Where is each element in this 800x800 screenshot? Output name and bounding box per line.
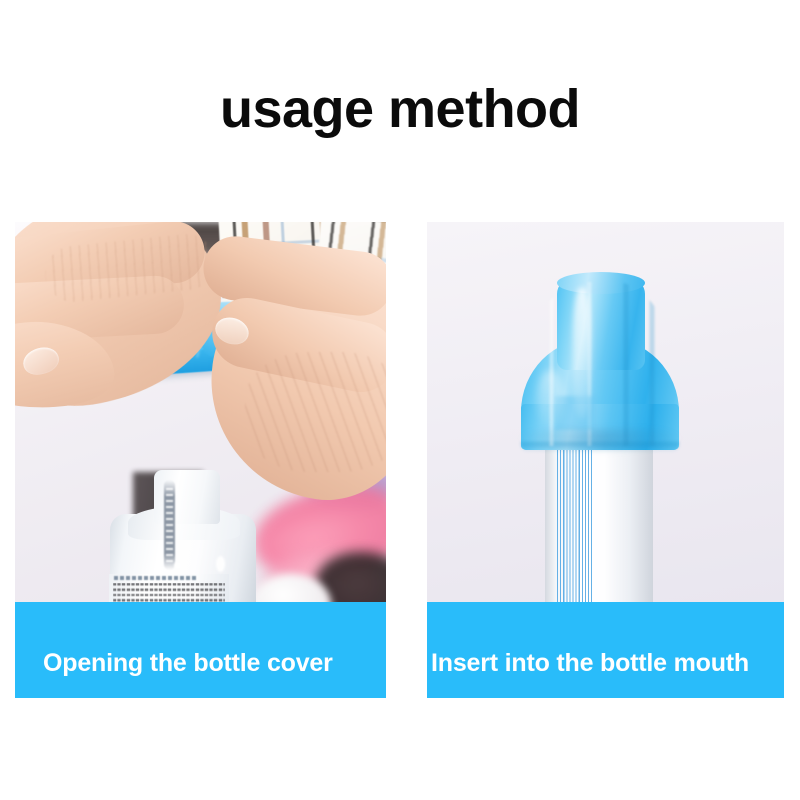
silicone-cap-gloss: [573, 288, 591, 418]
step-photo-1: [15, 222, 386, 602]
page-title: usage method: [0, 78, 800, 140]
bottle-label-body-text: [113, 583, 225, 602]
silicone-cap-gloss-2: [537, 370, 563, 430]
step-caption-2: Insert into the bottle mouth: [427, 649, 784, 678]
bottle-label: [109, 574, 229, 602]
photo-scene-opening-bottle-cover: [15, 222, 386, 602]
silicone-cap-installed: [521, 278, 679, 448]
bottle-vertical-brand-text: [164, 480, 175, 570]
right-hand-knuckle-lines: [245, 352, 386, 472]
bottle-stripe-pattern: [557, 438, 593, 602]
spray-bottle: [110, 470, 256, 602]
step-caption-bar-1: Opening the bottle cover: [15, 602, 386, 698]
step-caption-bar-2: Insert into the bottle mouth: [427, 602, 784, 698]
silicone-cap-shadow: [517, 428, 683, 454]
bottle-highlight: [216, 556, 225, 572]
step-card-2[interactable]: Insert into the bottle mouth: [427, 222, 784, 698]
step-photo-2: [427, 222, 784, 602]
bottle-label-heading: [114, 576, 198, 580]
steps-gallery: Opening the bottle cover: [0, 222, 800, 700]
step-card-1[interactable]: Opening the bottle cover: [15, 222, 386, 698]
bottle-highlight-2: [174, 562, 181, 569]
photo-scene-insert-into-bottle-mouth: [427, 222, 784, 602]
step-caption-1: Opening the bottle cover: [15, 649, 386, 678]
